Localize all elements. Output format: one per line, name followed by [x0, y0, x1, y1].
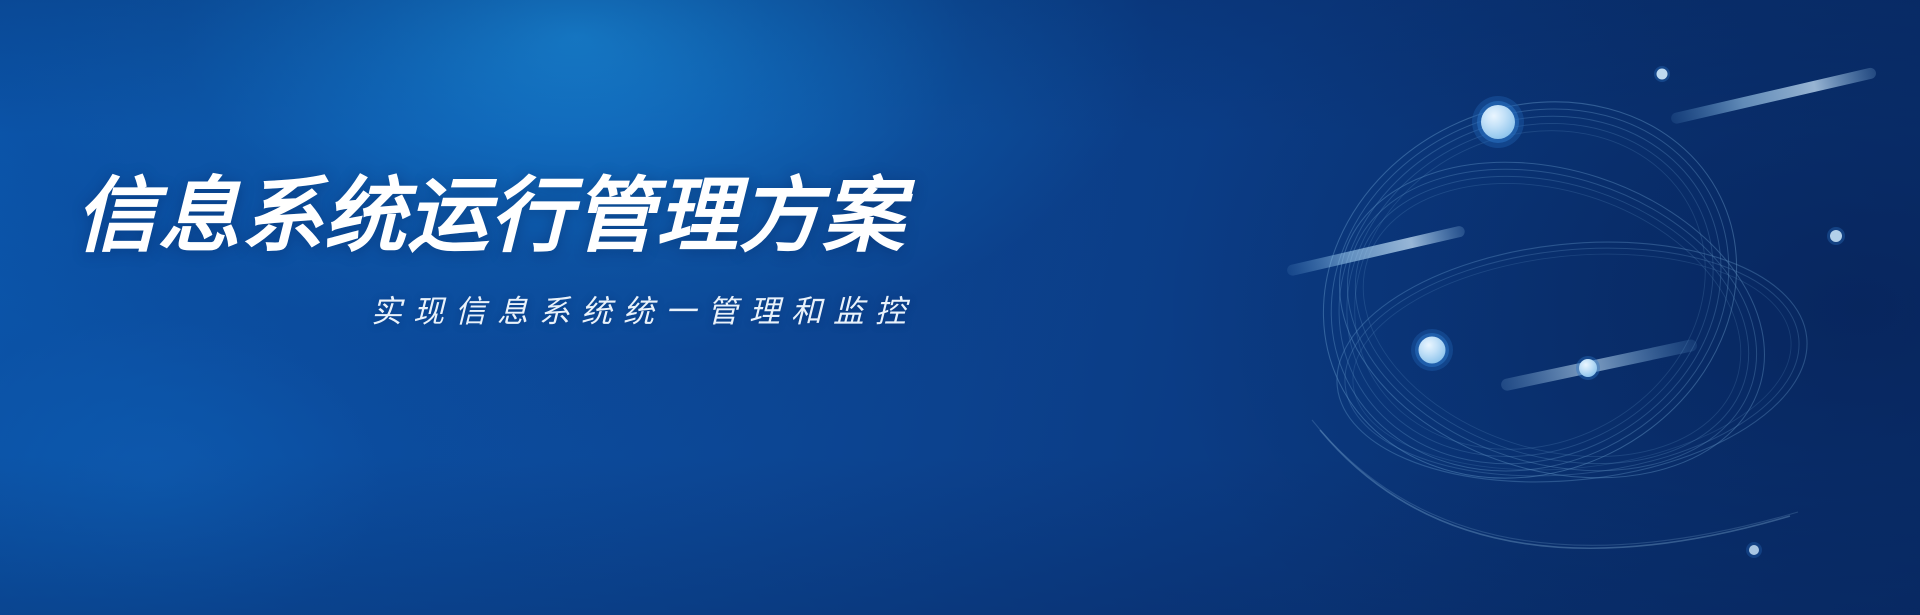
- tower: [1530, 426, 1580, 590]
- tower: [1582, 156, 1602, 257]
- tower: [1618, 222, 1636, 337]
- glow-dot: [1827, 227, 1845, 245]
- glow-dot: [1654, 66, 1670, 82]
- page-title: 信息系统运行管理方案: [75, 176, 935, 258]
- tower: [1800, 455, 1840, 593]
- tower: [1466, 376, 1514, 559]
- page-subtitle: 实现信息系统统一管理和监控: [75, 286, 935, 331]
- headline-block: 信息系统运行管理方案 实现信息系统统一管理和监控: [75, 176, 935, 331]
- tower: [1860, 104, 1912, 386]
- tower: [1496, 133, 1518, 289]
- glow-dot: [1746, 542, 1762, 558]
- glow-dot: [1472, 96, 1524, 148]
- isometric-wireframe-city-illustration: [1200, 0, 1920, 615]
- tower: [1406, 449, 1452, 599]
- glow-dot: [1411, 329, 1453, 371]
- tower: [1702, 421, 1746, 584]
- glow-dot: [1576, 356, 1600, 380]
- banner-root: 信息系统运行管理方案 实现信息系统统一管理和监控: [0, 0, 1920, 615]
